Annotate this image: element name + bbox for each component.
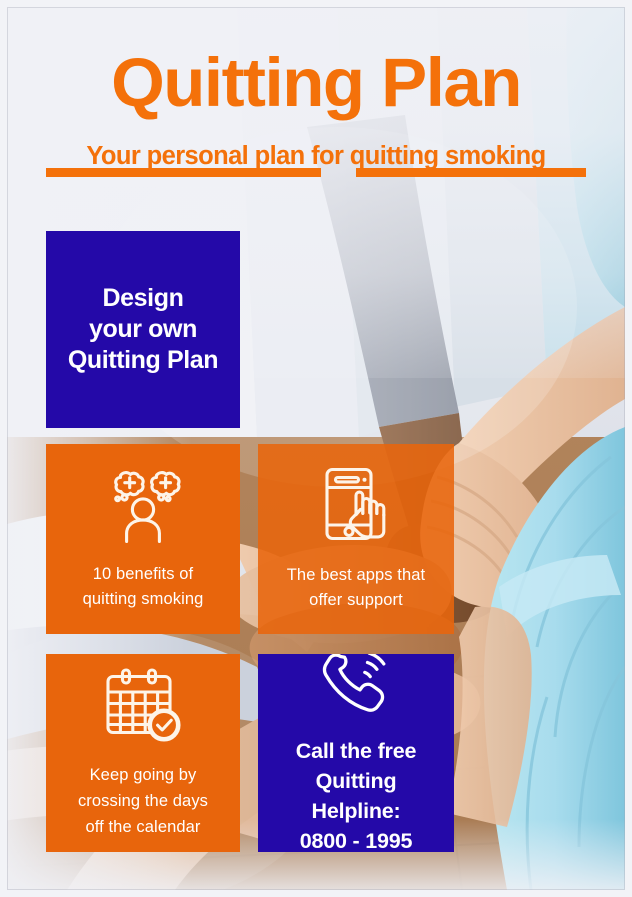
card-benefits-caption-line-1: 10 benefits of <box>93 565 193 583</box>
title-rule-left <box>46 168 321 177</box>
card-calendar-tracking[interactable]: Keep going by crossing the days off the … <box>46 654 240 852</box>
card-calendar-caption-line-3: off the calendar <box>85 818 200 836</box>
card-design-heading-line-2: your own <box>89 315 197 343</box>
calendar-check-icon <box>101 667 185 748</box>
card-helpline-heading: Call the free Quitting Helpline: 0800 - … <box>296 736 416 853</box>
title-underline-rules <box>46 168 586 177</box>
page-subtitle: Your personal plan for quitting smoking <box>0 142 632 170</box>
card-benefits-caption: 10 benefits of quitting smoking <box>73 562 214 612</box>
smartphone-tap-hand-icon <box>314 466 398 549</box>
phone-call-icon <box>322 654 390 722</box>
card-design-heading-line-1: Design <box>103 284 184 312</box>
card-best-apps[interactable]: The best apps that offer support <box>258 444 454 634</box>
card-benefits[interactable]: 10 benefits of quitting smoking <box>46 444 240 634</box>
card-design-your-own-plan[interactable]: Design your own Quitting Plan <box>46 231 240 428</box>
card-helpline-phone-number[interactable]: 0800 - 1995 <box>300 829 413 853</box>
card-quitting-helpline[interactable]: Call the free Quitting Helpline: 0800 - … <box>258 654 454 852</box>
card-benefits-caption-line-2: quitting smoking <box>83 590 204 608</box>
card-helpline-line-1: Call the free <box>296 739 416 763</box>
quitting-plan-poster: Quitting Plan Your personal plan for qui… <box>0 0 632 897</box>
card-helpline-line-3: Helpline: <box>312 799 401 823</box>
card-apps-caption-line-2: offer support <box>309 591 403 609</box>
poster-header: Quitting Plan Your personal plan for qui… <box>0 46 632 170</box>
card-design-heading: Design your own Quitting Plan <box>68 283 218 376</box>
card-apps-caption-line-1: The best apps that <box>287 566 425 584</box>
card-apps-caption: The best apps that offer support <box>277 563 435 613</box>
person-thought-bubbles-plus-icon <box>104 467 182 548</box>
card-calendar-caption-line-2: crossing the days <box>78 792 208 810</box>
card-design-heading-line-3: Quitting Plan <box>68 346 218 374</box>
card-calendar-caption-line-1: Keep going by <box>90 766 197 784</box>
card-helpline-line-2: Quitting <box>316 769 397 793</box>
card-calendar-caption: Keep going by crossing the days off the … <box>68 762 218 840</box>
page-title: Quitting Plan <box>0 46 632 120</box>
title-rule-right <box>356 168 586 177</box>
